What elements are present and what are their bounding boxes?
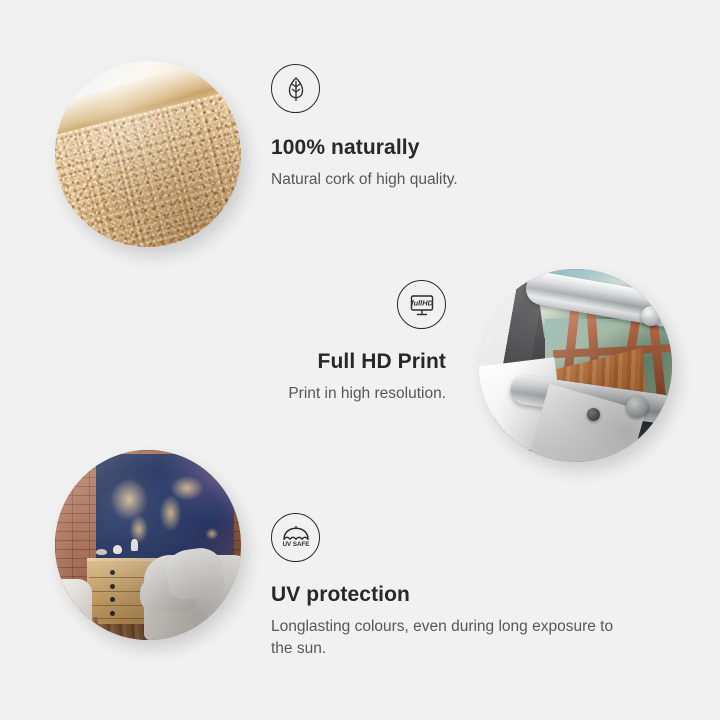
feature-description-uv: Longlasting colours, even during long ex… [271,616,636,660]
uv-safe-umbrella-icon: UV SAFE [271,513,320,562]
cork-board-macro-photo [55,61,241,247]
leaf-icon [271,64,320,113]
feature-description-fullhd: Print in high resolution. [210,383,446,405]
room-photo-shading [55,450,241,640]
feature-description-natural: Natural cork of high quality. [271,169,458,191]
feature-block-natural: 100% naturally Natural cork of high qual… [271,64,458,191]
feature-block-fullhd: fullHD Full HD Print Print in high resol… [210,280,446,405]
living-room-world-map-photo [55,450,241,640]
printer-photo-shading [479,269,672,462]
uv-safe-icon-label: UV SAFE [282,541,309,548]
feature-block-uv: UV SAFE UV protection Longlasting colour… [271,513,636,660]
feature-title-fullhd: Full HD Print [210,349,446,374]
full-hd-icon-label: fullHD [411,298,433,307]
printing-machine-photo [479,269,672,462]
feature-title-uv: UV protection [271,582,636,607]
infographic-canvas: 100% naturally Natural cork of high qual… [0,0,720,720]
cork-photo-shading [55,61,241,247]
full-hd-monitor-icon: fullHD [397,280,446,329]
feature-title-natural: 100% naturally [271,135,458,160]
